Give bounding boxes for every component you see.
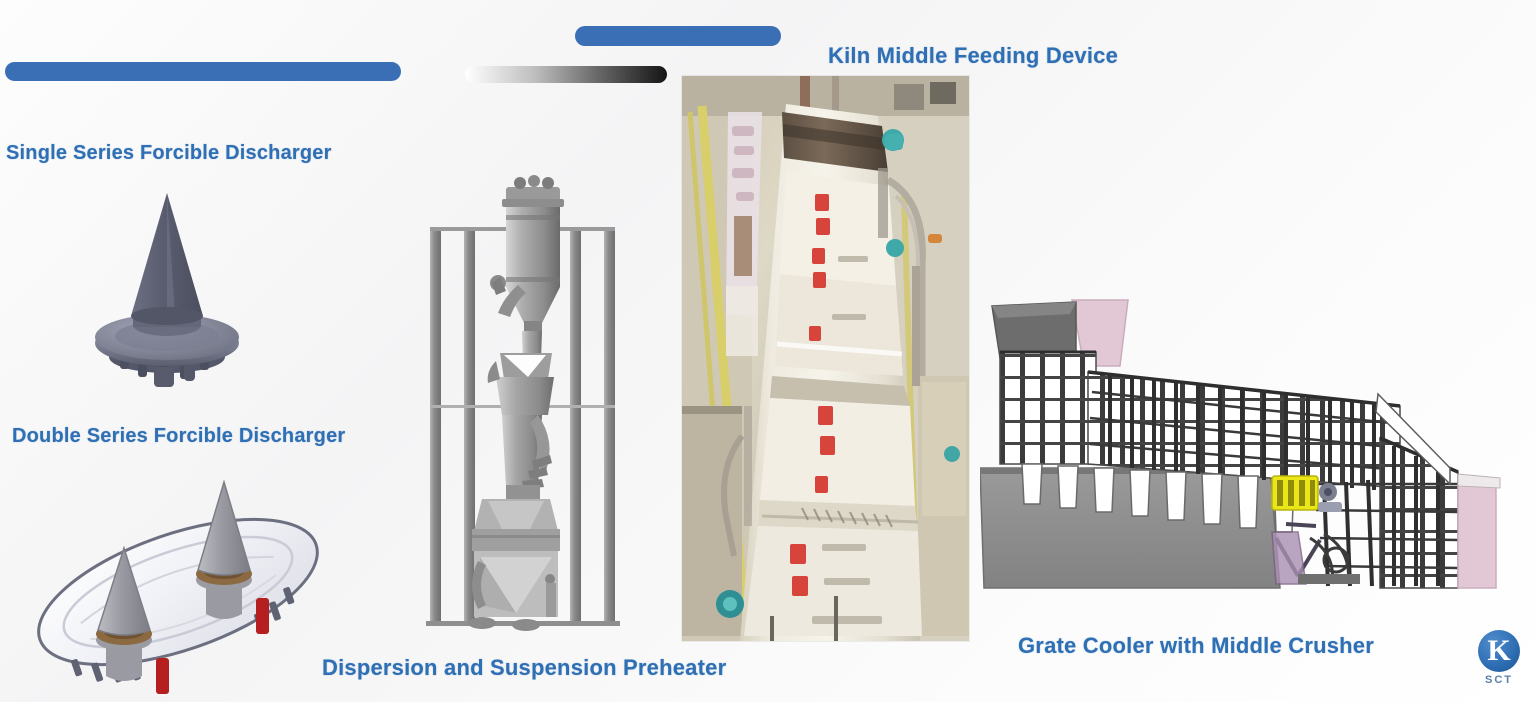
logo-mark-letter: K: [1478, 630, 1520, 672]
logo-company-name: SCT: [1468, 674, 1530, 686]
figure-preheater: [422, 165, 637, 645]
figure-kiln-photo: [682, 76, 969, 641]
slide-canvas: Single Series Forcible Discharger Double…: [0, 0, 1536, 702]
cone-discharger-icon: [72, 185, 262, 390]
figure-double-discharger: [28, 462, 328, 702]
figure-grate-cooler: [980, 288, 1525, 618]
decor-bar-top: [575, 26, 781, 46]
preheater-tower-icon: [422, 165, 637, 645]
decor-bar-left: [5, 62, 401, 81]
caption-grate-cooler: Grate Cooler with Middle Crusher: [1018, 633, 1374, 659]
figure-single-discharger: [72, 185, 262, 390]
rotary-kiln-photo: [682, 76, 969, 641]
logo-circle-icon: K: [1478, 630, 1520, 672]
dual-cone-plate-icon: [28, 462, 328, 702]
caption-single-discharger: Single Series Forcible Discharger: [6, 142, 332, 165]
caption-preheater: Dispersion and Suspension Preheater: [322, 655, 726, 681]
grate-cooler-icon: [980, 288, 1525, 618]
caption-kiln-feeding: Kiln Middle Feeding Device: [828, 43, 1118, 69]
company-logo: K SCT: [1468, 630, 1530, 696]
decor-bar-gradient: [465, 66, 667, 83]
caption-double-discharger: Double Series Forcible Discharger: [12, 425, 345, 448]
